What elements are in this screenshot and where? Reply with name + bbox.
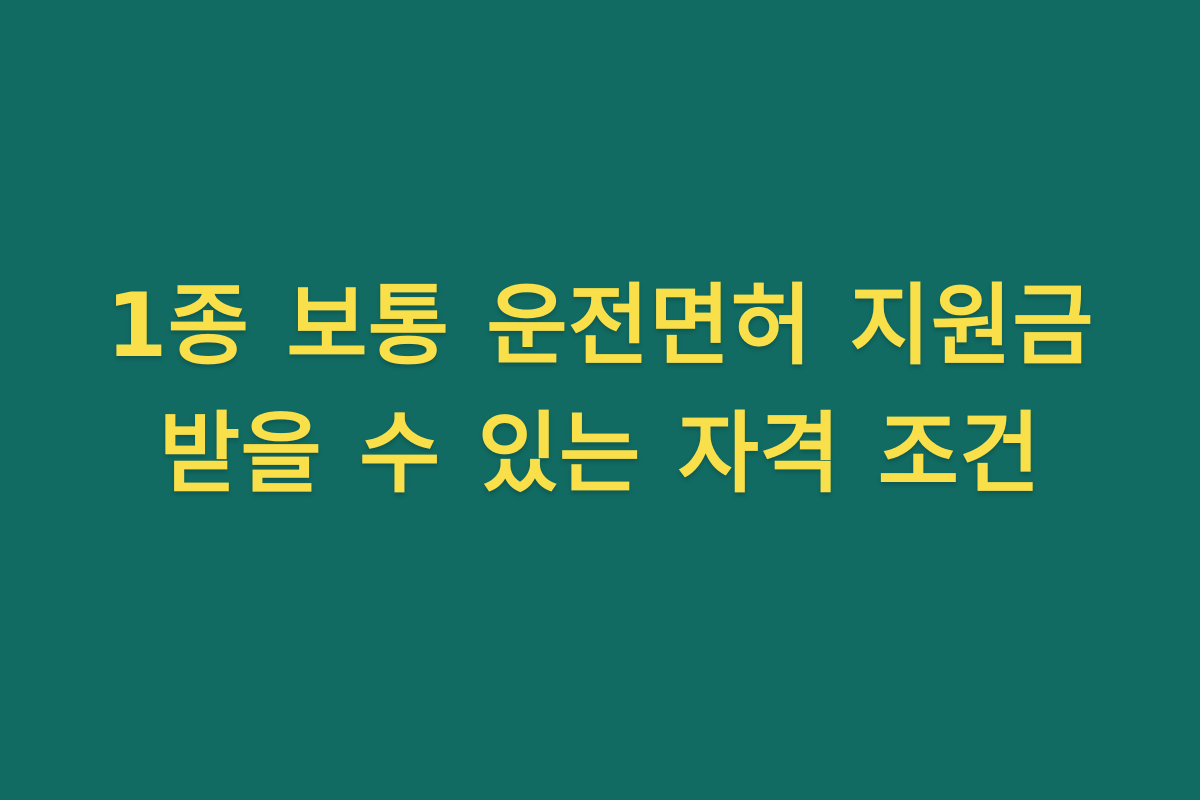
headline-text: 1종 보통 운전면허 지원금 받을 수 있는 자격 조건 <box>90 262 1110 518</box>
text-card: 1종 보통 운전면허 지원금 받을 수 있는 자격 조건 <box>0 0 1200 800</box>
